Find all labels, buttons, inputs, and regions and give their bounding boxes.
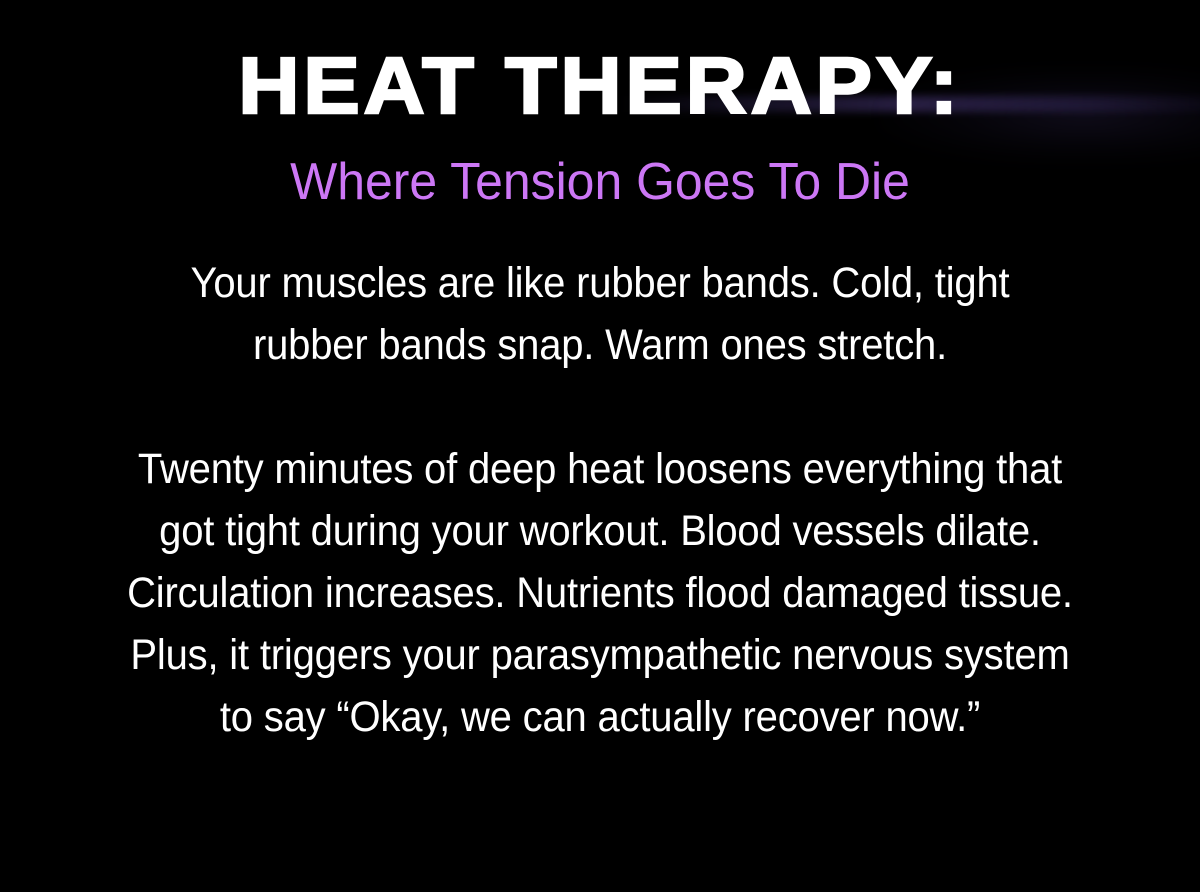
slide-canvas: HEAT THERAPY: Where Tension Goes To Die …: [0, 0, 1200, 892]
body-paragraph-2: Twenty minutes of deep heat loosens ever…: [126, 438, 1075, 748]
body-copy: Your muscles are like rubber bands. Cold…: [100, 252, 1100, 748]
body-paragraph-1: Your muscles are like rubber bands. Cold…: [135, 252, 1065, 376]
page-title: HEAT THERAPY:: [0, 44, 1200, 128]
page-subtitle: Where Tension Goes To Die: [24, 152, 1176, 212]
